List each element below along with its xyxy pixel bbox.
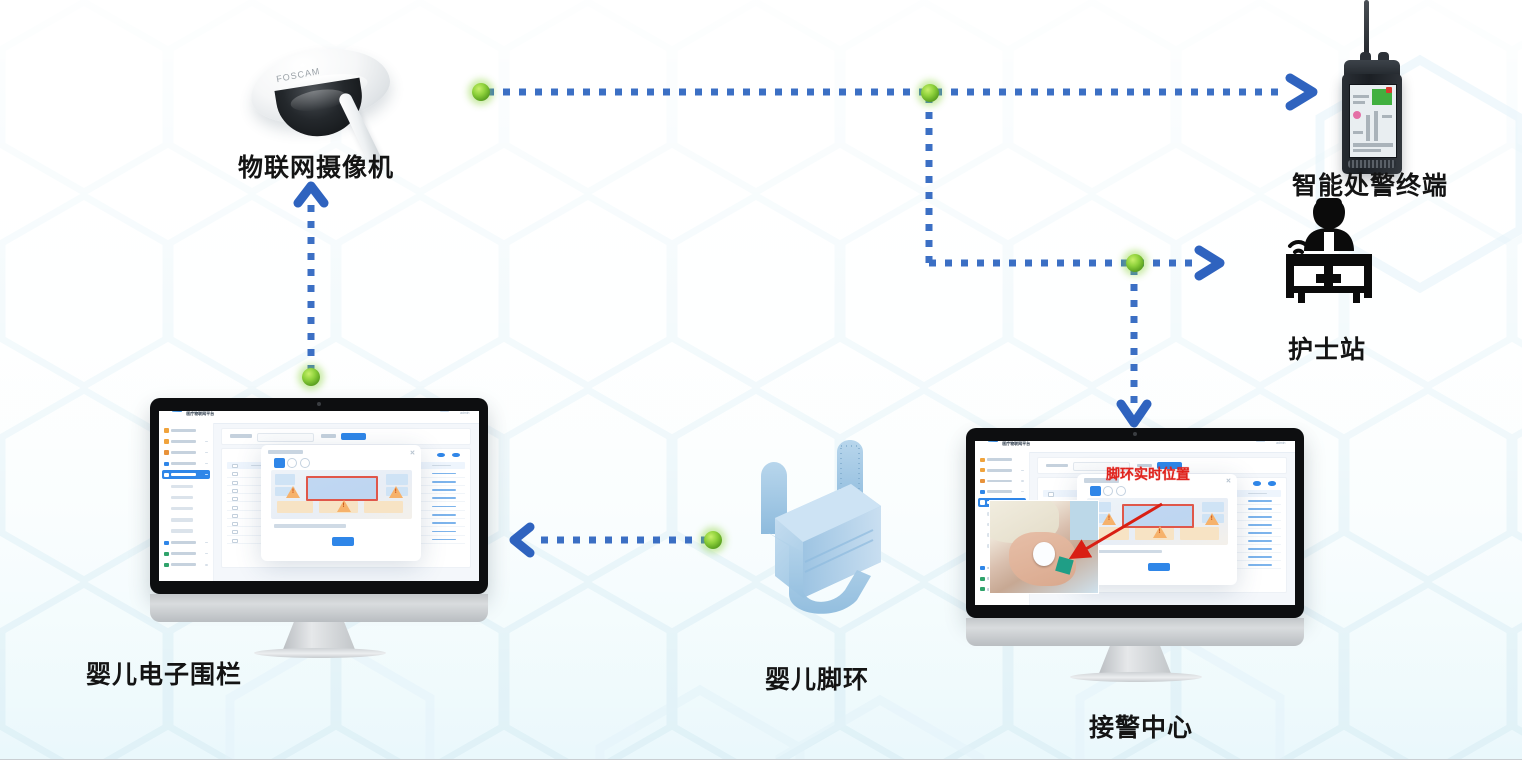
table-action-icon[interactable] — [452, 453, 460, 458]
app-user-label: admin — [1276, 441, 1285, 445]
table-action-icon[interactable] — [437, 453, 445, 458]
sidebar-item[interactable] — [978, 456, 1026, 465]
alert-warning-icon — [337, 500, 351, 512]
floor-plan-canvas[interactable] — [271, 470, 412, 519]
annotation-arrow-icon — [1058, 500, 1168, 570]
photo-anklet-ring — [1033, 542, 1055, 566]
sidebar-item[interactable] — [162, 437, 210, 446]
search-bar[interactable] — [221, 428, 471, 446]
medical-iot-app: 医疗物联网平台 admin — [159, 411, 479, 581]
shape-option-circle[interactable] — [287, 458, 297, 469]
app-title: 医疗物联网平台 — [1002, 441, 1030, 447]
sidebar-item[interactable] — [978, 488, 1026, 497]
sidebar-subitem[interactable] — [171, 485, 193, 489]
link-node-junction-top — [921, 84, 939, 102]
link-node-fence-out — [302, 368, 320, 386]
map-alert-marker — [1386, 87, 1392, 93]
alert-warning-icon — [1205, 513, 1219, 525]
sidebar-item-active[interactable] — [162, 470, 210, 479]
baby-anklet-icon — [745, 440, 895, 620]
arrow-up-to-camera — [298, 186, 324, 203]
search-button[interactable] — [341, 433, 366, 441]
close-icon[interactable] — [410, 450, 415, 455]
monitor-stand-foot — [1070, 672, 1202, 682]
search-field-label-2 — [321, 434, 336, 438]
shape-option-ellipse[interactable] — [300, 458, 310, 469]
shape-option-rect[interactable] — [274, 458, 284, 469]
search-field-label — [1046, 464, 1068, 468]
arrow-down-to-alarm-center — [1121, 404, 1147, 423]
sidebar-subitem[interactable] — [171, 518, 193, 522]
sidebar-subitem[interactable] — [171, 529, 193, 533]
sidebar-item[interactable] — [162, 448, 210, 457]
app-user-label: admin — [460, 411, 469, 415]
sidebar-subitem[interactable] — [171, 496, 193, 500]
fence-monitor-device[interactable]: 医疗物联网平台 admin — [150, 398, 490, 658]
sidebar-item[interactable] — [162, 560, 210, 569]
nurse-station-device[interactable] — [1276, 196, 1382, 306]
shape-option-rect[interactable] — [1090, 486, 1100, 496]
app-sidebar[interactable] — [159, 423, 214, 581]
monitor-chin — [150, 594, 488, 622]
alert-warning-icon — [389, 486, 403, 498]
map-pink-marker — [1353, 111, 1361, 119]
caption-camera: 物联网摄像机 — [238, 148, 394, 184]
sidebar-item[interactable] — [978, 466, 1026, 475]
link-node-anklet-out — [704, 531, 722, 549]
sidebar-item[interactable] — [978, 477, 1026, 486]
app-title: 医疗物联网平台 — [186, 411, 214, 417]
caption-fence-monitor: 婴儿电子围栏 — [86, 655, 242, 691]
alarm-center-monitor-device[interactable]: 医疗物联网平台 admin — [966, 428, 1306, 683]
electronic-fence-region[interactable] — [306, 476, 378, 500]
caption-alarm-center: 接警中心 — [1089, 708, 1193, 744]
caption-baby-anklet: 婴儿脚环 — [765, 660, 869, 696]
sidebar-item[interactable] — [162, 549, 210, 558]
nurse-station-icon — [1276, 196, 1382, 306]
shape-option-ellipse[interactable] — [1116, 486, 1126, 496]
search-input[interactable] — [257, 433, 313, 443]
table-action-icon[interactable] — [1268, 481, 1276, 486]
close-icon[interactable] — [1226, 478, 1231, 482]
sidebar-item[interactable] — [162, 459, 210, 468]
arrow-right-to-radio — [1290, 78, 1313, 106]
fence-monitor-screen[interactable]: 医疗物联网平台 admin — [159, 411, 479, 581]
arrow-left-to-fence — [514, 527, 530, 553]
sidebar-subitem[interactable] — [171, 507, 193, 511]
shape-option-circle[interactable] — [1103, 486, 1113, 496]
sidebar-item[interactable] — [162, 538, 210, 547]
link-node-junction-nurse — [1126, 254, 1144, 272]
alert-warning-icon — [286, 486, 300, 498]
dialog-confirm-button[interactable] — [332, 537, 354, 545]
baby-anklet-device[interactable] — [745, 440, 895, 620]
monitor-chin — [966, 618, 1304, 646]
caption-nurse-station: 护士站 — [1288, 330, 1366, 366]
fence-config-dialog[interactable] — [261, 445, 421, 561]
table-action-icon[interactable] — [1253, 481, 1261, 486]
radio-map-screen — [1349, 84, 1397, 158]
link-node-camera-out — [472, 83, 490, 101]
sidebar-item[interactable] — [162, 426, 210, 435]
dialog-note — [274, 524, 346, 528]
smart-alarm-terminal-device[interactable] — [1338, 0, 1408, 176]
monitor-stand-foot — [254, 648, 386, 658]
arrow-right-to-nurse — [1199, 250, 1220, 276]
search-field-label — [230, 434, 252, 438]
dialog-title — [268, 450, 303, 455]
realtime-position-label: 脚环实时位置 — [1106, 464, 1190, 484]
